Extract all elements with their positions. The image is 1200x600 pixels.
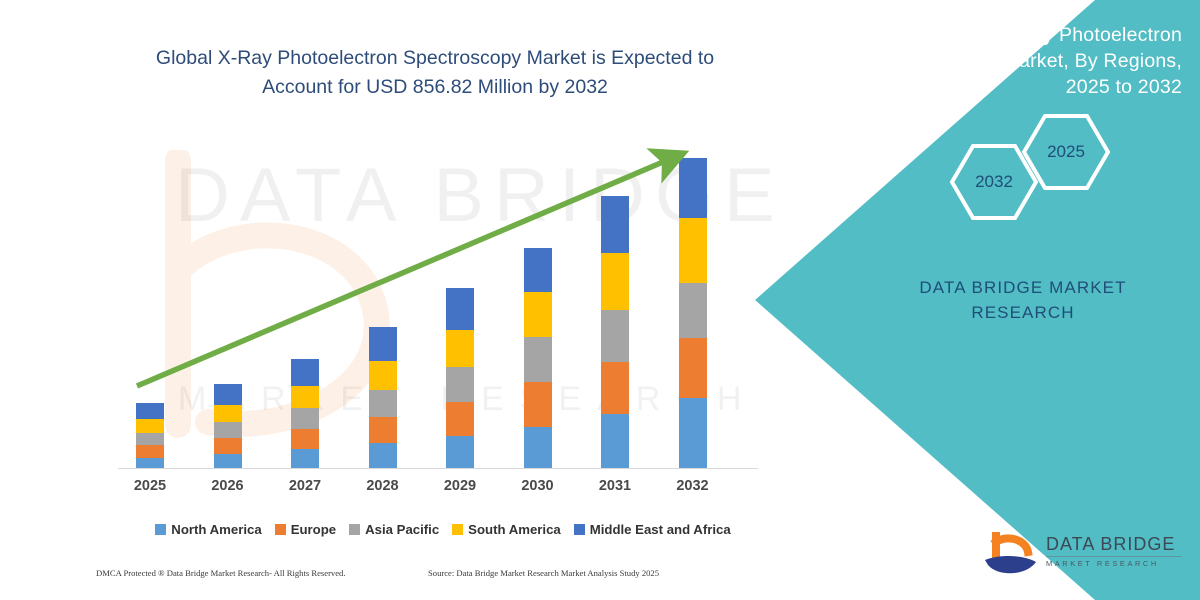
chart-plot-area: [0, 0, 800, 600]
bar-segment: [446, 402, 474, 436]
bar-segment: [136, 419, 164, 433]
bar-segment: [136, 445, 164, 458]
infographic-canvas: DATA BRIDGE MARKET RESEARCH Global X-Ray…: [0, 0, 1200, 600]
x-axis-label-2028: 2028: [348, 478, 418, 494]
x-axis-label-2025: 2025: [115, 478, 185, 494]
x-axis-label-2031: 2031: [580, 478, 650, 494]
panel-brand-text: DATA BRIDGE MARKET RESEARCH: [868, 275, 1178, 325]
x-axis-label-2029: 2029: [425, 478, 495, 494]
brand-logo: DATA BRIDGE MARKET RESEARCH: [982, 528, 1182, 584]
bar-segment: [679, 338, 707, 398]
logo-name: DATA BRIDGE: [1046, 534, 1182, 554]
bar-segment: [291, 429, 319, 449]
x-axis-label-2027: 2027: [270, 478, 340, 494]
bar-2030: [524, 248, 552, 468]
bar-segment: [601, 414, 629, 468]
legend-item[interactable]: North America: [155, 522, 261, 537]
legend-label: South America: [468, 522, 561, 537]
x-axis-labels: 20252026202720282029203020312032: [0, 478, 800, 504]
bar-2029: [446, 288, 474, 468]
bar-2025: [136, 403, 164, 468]
legend-swatch-icon: [155, 524, 166, 535]
bar-segment: [446, 436, 474, 468]
legend-item[interactable]: Middle East and Africa: [574, 522, 731, 537]
bar-segment: [369, 327, 397, 361]
bar-segment: [446, 330, 474, 367]
side-panel: Global X-Ray Photoelectron Spectroscopy …: [750, 0, 1200, 600]
footer-copyright: DMCA Protected ® Data Bridge Market Rese…: [96, 568, 346, 578]
x-axis-label-2030: 2030: [503, 478, 573, 494]
hexagon-2025-label: 2025: [1020, 112, 1112, 192]
bar-segment: [136, 403, 164, 419]
bar-segment: [214, 422, 242, 438]
bar-segment: [679, 158, 707, 218]
legend-item[interactable]: Europe: [275, 522, 336, 537]
bar-segment: [524, 292, 552, 337]
chart-legend: North AmericaEuropeAsia PacificSouth Ame…: [118, 518, 768, 540]
legend-label: Europe: [291, 522, 336, 537]
bar-segment: [369, 443, 397, 468]
bar-segment: [291, 449, 319, 468]
footer: DMCA Protected ® Data Bridge Market Rese…: [0, 568, 800, 588]
logo-text-block: DATA BRIDGE MARKET RESEARCH: [1046, 534, 1182, 569]
legend-label: Asia Pacific: [365, 522, 439, 537]
footer-source: Source: Data Bridge Market Research Mark…: [428, 568, 659, 578]
bar-2031: [601, 196, 629, 468]
bar-segment: [524, 248, 552, 292]
panel-title: Global X-Ray Photoelectron Spectroscopy …: [862, 22, 1182, 100]
legend-item[interactable]: Asia Pacific: [349, 522, 439, 537]
bar-segment: [601, 196, 629, 253]
hexagon-group: 2032 2025: [942, 112, 1122, 222]
x-axis-label-2032: 2032: [658, 478, 728, 494]
bar-2028: [369, 327, 397, 468]
bar-segment: [214, 384, 242, 405]
bar-segment: [291, 408, 319, 429]
bar-segment: [679, 283, 707, 338]
legend-swatch-icon: [349, 524, 360, 535]
bar-segment: [679, 398, 707, 468]
legend-item[interactable]: South America: [452, 522, 561, 537]
bar-segment: [369, 390, 397, 417]
bar-segment: [291, 359, 319, 386]
bar-segment: [679, 218, 707, 283]
logo-divider: [1046, 556, 1182, 557]
bar-segment: [524, 427, 552, 468]
chart-baseline: [118, 468, 758, 469]
data-bridge-logo-icon: [982, 532, 1040, 580]
bar-segment: [601, 253, 629, 310]
legend-label: Middle East and Africa: [590, 522, 731, 537]
bar-segment: [291, 386, 319, 408]
bar-segment: [601, 362, 629, 414]
bar-segment: [136, 433, 164, 445]
legend-swatch-icon: [574, 524, 585, 535]
logo-subtitle: MARKET RESEARCH: [1046, 559, 1182, 569]
bar-segment: [524, 337, 552, 382]
bar-2032: [679, 158, 707, 468]
bar-segment: [524, 382, 552, 427]
bar-segment: [214, 438, 242, 454]
bar-segment: [446, 367, 474, 402]
x-axis-label-2026: 2026: [193, 478, 263, 494]
bar-2027: [291, 359, 319, 468]
bar-2026: [214, 384, 242, 468]
bar-segment: [136, 458, 164, 468]
bar-segment: [601, 310, 629, 362]
bar-segment: [214, 454, 242, 468]
legend-swatch-icon: [275, 524, 286, 535]
legend-swatch-icon: [452, 524, 463, 535]
bar-segment: [446, 288, 474, 330]
hexagon-2025: 2025: [1020, 112, 1112, 192]
bar-segment: [214, 405, 242, 422]
legend-label: North America: [171, 522, 261, 537]
bar-segment: [369, 361, 397, 390]
bar-segment: [369, 417, 397, 443]
